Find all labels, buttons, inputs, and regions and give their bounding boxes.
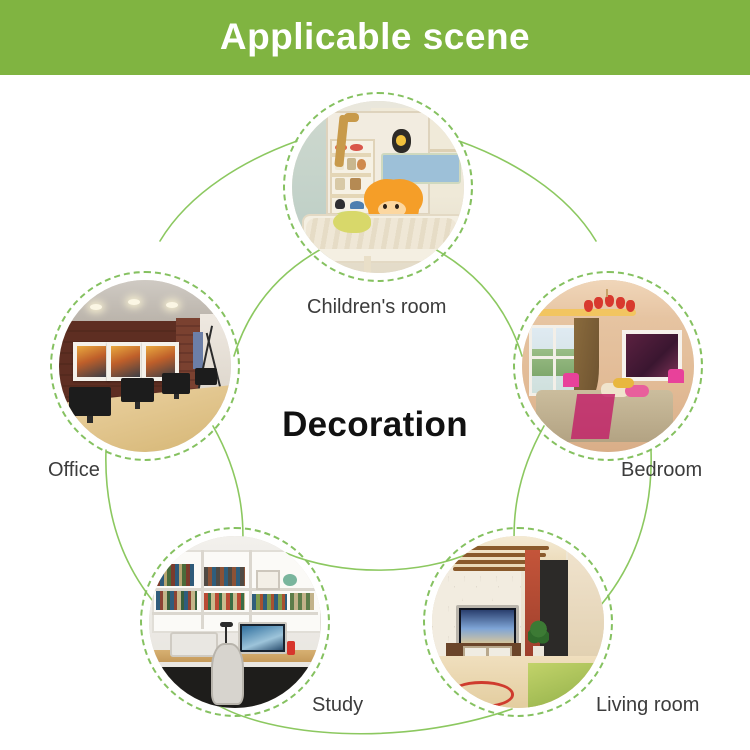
scene-photo-office <box>59 280 231 452</box>
scene-node-office[interactable] <box>50 271 246 467</box>
scene-caption-office: Office <box>48 460 100 480</box>
scene-photo-study <box>149 536 321 708</box>
scene-node-study[interactable] <box>140 527 336 723</box>
scene-node-bedroom[interactable] <box>513 271 709 467</box>
bedroom-illustration <box>522 280 694 452</box>
scene-caption-children: Children's room <box>307 297 446 317</box>
scene-photo-living <box>432 536 604 708</box>
study-illustration <box>149 536 321 708</box>
scene-caption-bedroom: Bedroom <box>621 460 702 480</box>
scene-photo-children <box>292 101 464 273</box>
scene-caption-living: Living room <box>596 695 699 715</box>
applicable-scene-infographic: Applicable scene <box>0 0 750 750</box>
scene-node-living[interactable] <box>423 527 619 723</box>
arc-children-bedroom <box>459 141 596 241</box>
living-room-illustration <box>432 536 604 708</box>
arc-children-office <box>160 141 297 241</box>
header-banner: Applicable scene <box>0 0 750 75</box>
office-illustration <box>59 280 231 452</box>
childrens-room-illustration <box>292 101 464 273</box>
page-title: Applicable scene <box>220 18 530 58</box>
scene-caption-study: Study <box>312 695 363 715</box>
scene-photo-bedroom <box>522 280 694 452</box>
scene-node-children[interactable] <box>283 92 479 288</box>
scene-diagram: Decoration <box>0 75 750 750</box>
